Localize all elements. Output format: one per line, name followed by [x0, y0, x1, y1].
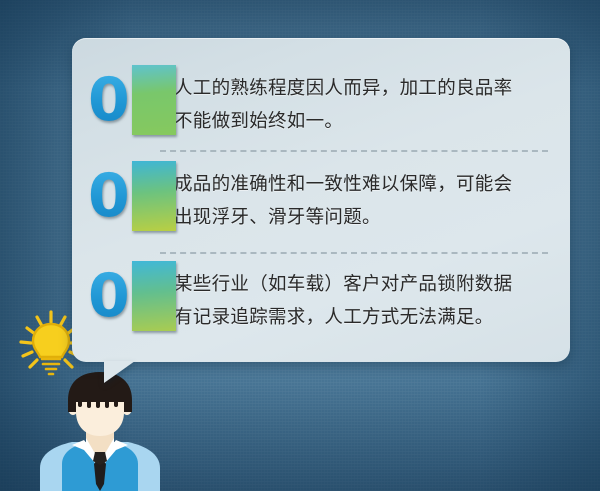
digit-zero: 0	[88, 261, 132, 331]
digit-one: 1	[132, 65, 176, 135]
digit-zero: 0	[88, 161, 132, 231]
speech-bubble-tail	[104, 361, 135, 383]
bubble-content: 01 人工的熟练程度因人而异，加工的良品率 不能做到始终如一。 02 成品的准确…	[72, 38, 570, 362]
person-avatar-icon	[24, 372, 176, 491]
speech-bubble: 01 人工的熟练程度因人而异，加工的良品率 不能做到始终如一。 02 成品的准确…	[72, 38, 570, 362]
item-text-line: 成品的准确性和一致性难以保障，可能会	[174, 168, 552, 201]
item-text-line: 不能做到始终如一。	[174, 105, 552, 138]
item-number-01: 01	[88, 68, 174, 130]
item-text-01: 人工的熟练程度因人而异，加工的良品率 不能做到始终如一。	[174, 68, 552, 138]
item-text-line: 某些行业（如车载）客户对产品锁附数据	[174, 268, 552, 301]
item-text-line: 出现浮牙、滑牙等问题。	[174, 201, 552, 234]
list-item: 03 某些行业（如车载）客户对产品锁附数据 有记录追踪需求，人工方式无法满足。	[88, 254, 552, 354]
item-text-03: 某些行业（如车载）客户对产品锁附数据 有记录追踪需求，人工方式无法满足。	[174, 264, 552, 334]
list-item: 02 成品的准确性和一致性难以保障，可能会 出现浮牙、滑牙等问题。	[88, 152, 552, 252]
digit-two: 2	[132, 161, 176, 231]
item-number-03: 03	[88, 264, 174, 326]
digit-zero: 0	[88, 65, 132, 135]
item-text-line: 有记录追踪需求，人工方式无法满足。	[174, 301, 552, 334]
digit-three: 3	[132, 261, 176, 331]
item-number-02: 02	[88, 164, 174, 226]
item-text-02: 成品的准确性和一致性难以保障，可能会 出现浮牙、滑牙等问题。	[174, 164, 552, 234]
item-text-line: 人工的熟练程度因人而异，加工的良品率	[174, 72, 552, 105]
list-item: 01 人工的熟练程度因人而异，加工的良品率 不能做到始终如一。	[88, 50, 552, 150]
